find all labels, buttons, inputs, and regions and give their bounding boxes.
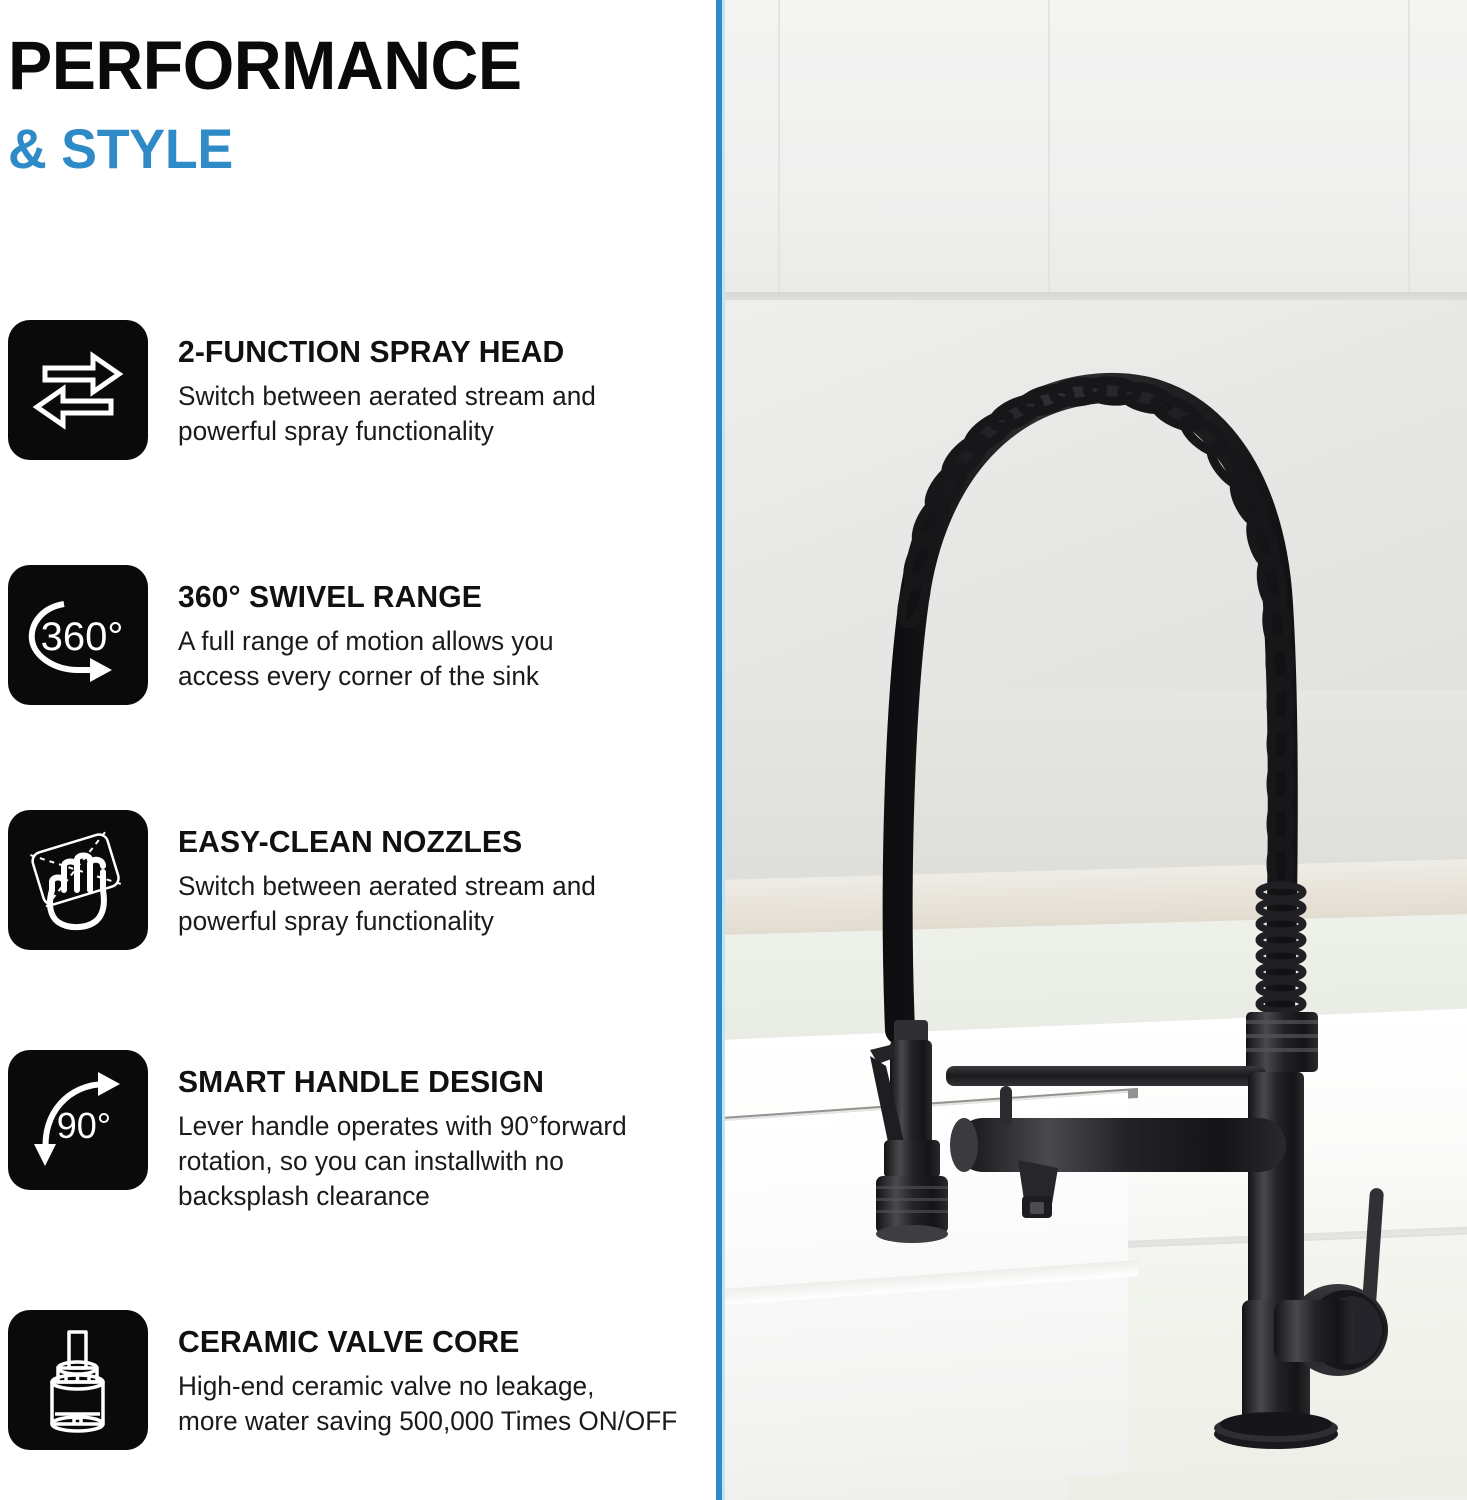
icon-label-90: 90°	[57, 1105, 111, 1146]
title-line-primary: PERFORMANCE	[8, 28, 680, 104]
feature-item: CERAMIC VALVE CORE High-end ceramic valv…	[0, 1310, 718, 1480]
feature-body: Switch between aerated stream and powerf…	[178, 379, 702, 449]
feature-heading: CERAMIC VALVE CORE	[178, 1324, 702, 1360]
icon-label-360: 360°	[41, 615, 124, 659]
feature-list: 2-FUNCTION SPRAY HEAD Switch between aer…	[0, 320, 718, 1480]
feature-text: SMART HANDLE DESIGN Lever handle operate…	[148, 1050, 718, 1214]
feature-heading: SMART HANDLE DESIGN	[178, 1064, 702, 1100]
faucet-spring-coils	[897, 379, 1291, 887]
vertical-divider-highlight	[722, 0, 725, 1500]
faucet-spout-lever	[1000, 1086, 1012, 1126]
faucet-handle-base	[1274, 1300, 1354, 1362]
feature-text: 360° SWIVEL RANGE A full range of motion…	[148, 565, 718, 694]
kitchen-scene	[718, 0, 1467, 1500]
two-way-arrows-icon	[8, 320, 148, 460]
faucet-coil-stack	[1259, 885, 1303, 1011]
90-degree-arc-icon: 90°	[8, 1050, 148, 1190]
feature-heading: 360° SWIVEL RANGE	[178, 579, 702, 615]
feature-item: 360° 360° SWIVEL RANGE A full range of m…	[0, 565, 718, 810]
product-photo	[718, 0, 1467, 1500]
feature-text: EASY-CLEAN NOZZLES Switch between aerate…	[148, 810, 718, 939]
feature-body: High-end ceramic valve no leakage, more …	[178, 1369, 702, 1439]
spring-faucet	[718, 0, 1467, 1500]
feature-heading: 2-FUNCTION SPRAY HEAD	[178, 334, 702, 370]
feature-body: A full range of motion allows you access…	[178, 624, 702, 694]
title-line-accent: & STYLE	[8, 118, 680, 180]
sprayer-nozzle-face	[876, 1225, 948, 1243]
feature-text: CERAMIC VALVE CORE High-end ceramic valv…	[148, 1310, 718, 1439]
infographic-page: PERFORMANCE & STYLE 2-FUNCTION SPRAY HEA…	[0, 0, 1467, 1500]
360-rotation-icon: 360°	[8, 565, 148, 705]
feature-heading: EASY-CLEAN NOZZLES	[178, 824, 702, 860]
hand-wipe-icon	[8, 810, 148, 950]
page-title: PERFORMANCE & STYLE	[8, 28, 708, 180]
faucet-spout-arm	[956, 1118, 1286, 1172]
feature-body: Switch between aerated stream and powerf…	[178, 869, 702, 939]
faucet-lever-handle	[1362, 1188, 1384, 1307]
sprayer-ferrule	[884, 1140, 940, 1178]
ceramic-cartridge-icon	[8, 1310, 148, 1450]
faucet-spout-cap	[950, 1118, 978, 1172]
feature-text: 2-FUNCTION SPRAY HEAD Switch between aer…	[148, 320, 718, 449]
feature-body: Lever handle operates with 90°forward ro…	[178, 1109, 702, 1214]
feature-item: EASY-CLEAN NOZZLES Switch between aerate…	[0, 810, 718, 1050]
features-panel: PERFORMANCE & STYLE 2-FUNCTION SPRAY HEA…	[0, 0, 718, 1500]
feature-item: 2-FUNCTION SPRAY HEAD Switch between aer…	[0, 320, 718, 565]
faucet-support-arm	[946, 1066, 1266, 1086]
feature-item: 90° SMART HANDLE DESIGN Lever handle ope…	[0, 1050, 718, 1310]
